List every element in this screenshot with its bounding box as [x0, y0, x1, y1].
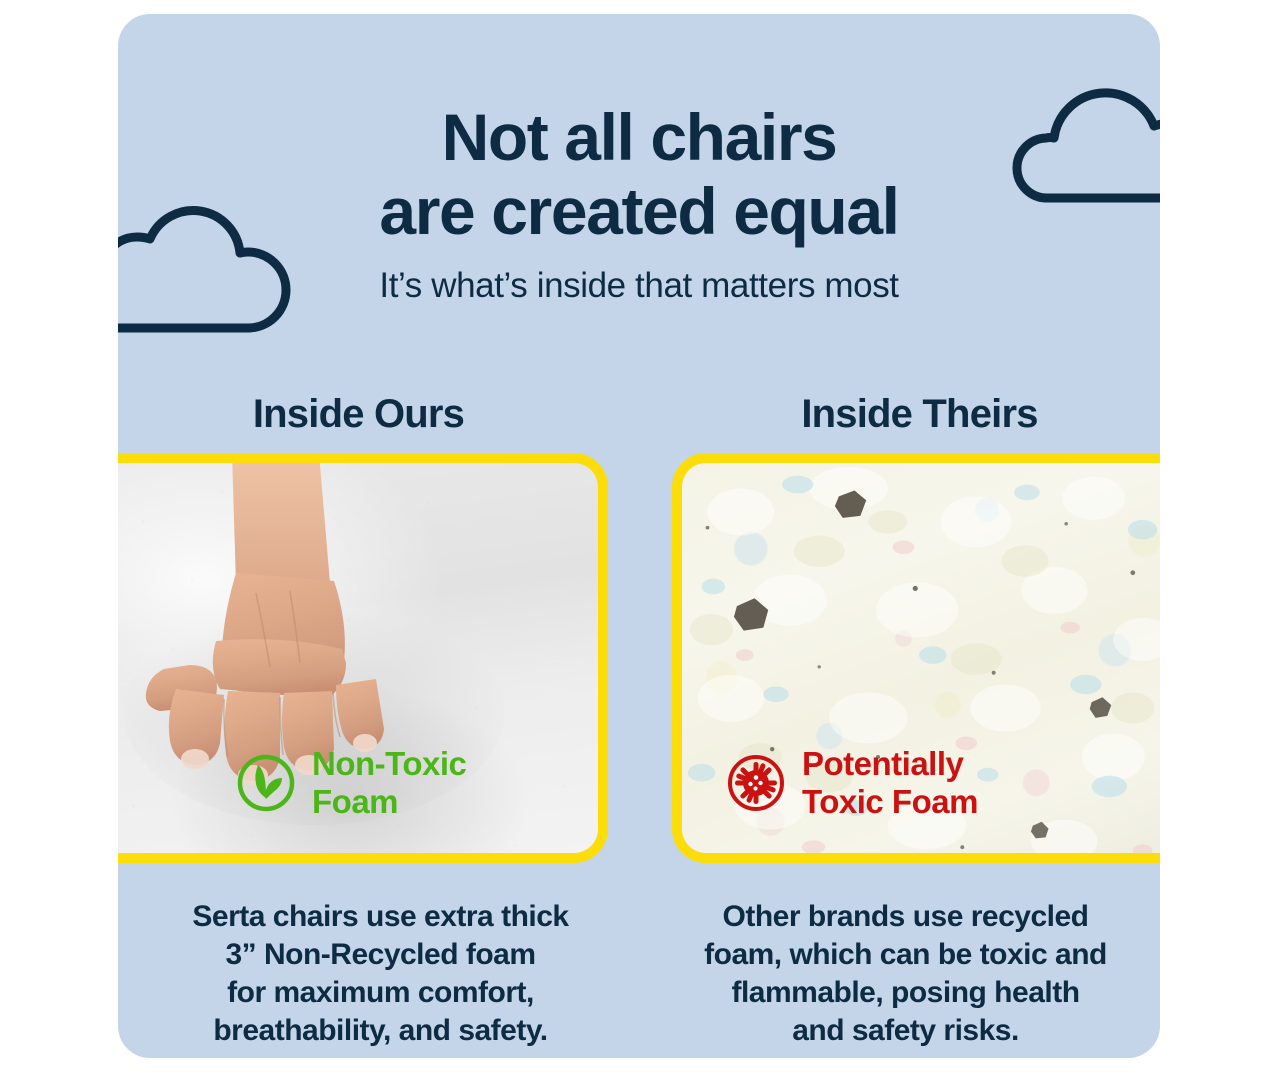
- leaf-icon: [236, 753, 296, 813]
- headline-line-1: Not all chairs: [118, 100, 1160, 174]
- photo-panel-ours: Non-Toxic Foam: [118, 453, 608, 863]
- caption-row: Serta chairs use extra thick 3” Non-Recy…: [118, 898, 1160, 1050]
- caption-theirs: Other brands use recycled foam, which ca…: [647, 898, 1160, 1050]
- virus-icon: [726, 753, 786, 813]
- headline-line-2: are created equal: [118, 174, 1160, 248]
- badge-label-non-toxic: Non-Toxic Foam: [312, 745, 466, 821]
- photo-panels: Non-Toxic Foam: [118, 453, 1160, 863]
- infographic-stage: Not all chairs are created equal It’s wh…: [0, 0, 1280, 1073]
- photo-panel-theirs: Potentially Toxic Foam: [672, 453, 1160, 863]
- badge-non-toxic: Non-Toxic Foam: [236, 745, 466, 821]
- column-heading-theirs: Inside Theirs: [665, 392, 1160, 453]
- infographic-card: Not all chairs are created equal It’s wh…: [118, 14, 1160, 1058]
- column-heading-ours: Inside Ours: [118, 392, 665, 453]
- badge-label-potentially-toxic: Potentially Toxic Foam: [802, 745, 978, 821]
- headline-subtitle: It’s what’s inside that matters most: [118, 266, 1160, 306]
- headline-block: Not all chairs are created equal It’s wh…: [118, 100, 1160, 306]
- caption-ours: Serta chairs use extra thick 3” Non-Recy…: [118, 898, 647, 1050]
- badge-potentially-toxic: Potentially Toxic Foam: [726, 745, 978, 821]
- column-headings: Inside Ours Inside Theirs: [118, 392, 1160, 453]
- comparison-section: Inside Ours Inside Theirs: [118, 392, 1160, 863]
